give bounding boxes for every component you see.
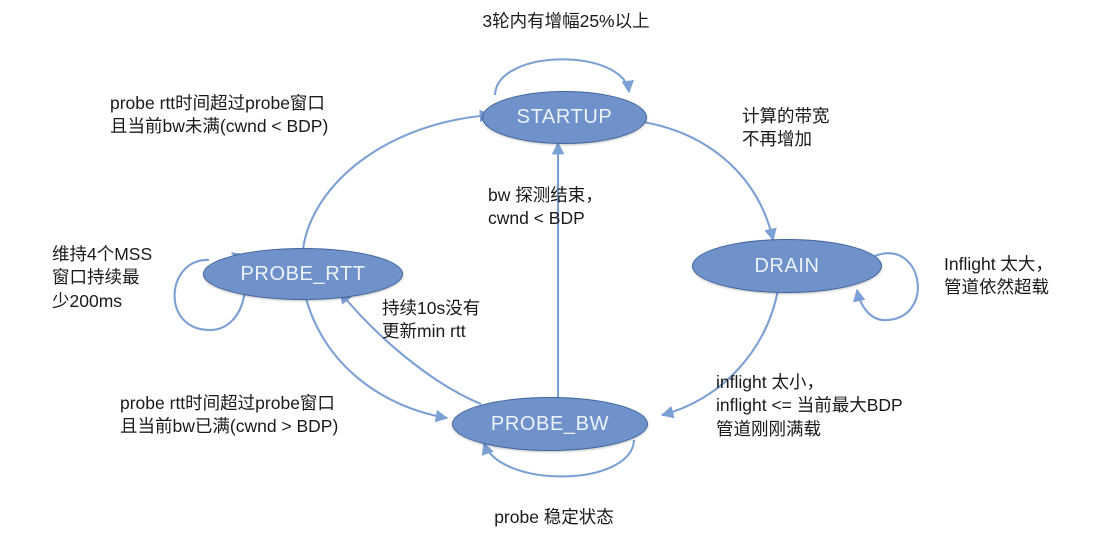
state-node-startup-label: STARTUP [517,106,613,129]
edge-label-probe-bw-to-probe-rtt: 持续10s没有 更新min rtt [382,297,542,344]
edge-label-drain-to-probe-bw: inflight 太小， inflight <= 当前最大BDP 管道刚刚满载 [716,371,966,441]
edge-label-probe-bw-self: probe 稳定状态 [454,506,654,529]
edge-label-startup-self: 3轮内有增幅25%以上 [436,10,696,33]
state-node-drain-label: DRAIN [754,255,819,278]
edge-label-startup-to-drain: 计算的带宽 不再增加 [742,105,922,152]
state-node-startup[interactable]: STARTUP [482,91,647,144]
state-machine-diagram: STARTUP DRAIN PROBE_BW PROBE_RTT 3轮内有增幅2… [0,0,1115,554]
state-node-probe-bw[interactable]: PROBE_BW [452,397,648,451]
state-node-probe-bw-label: PROBE_BW [491,413,609,436]
state-node-drain[interactable]: DRAIN [692,239,882,293]
edge-startup-self [495,59,629,95]
edge-label-drain-self: Inflight 太大， 管道依然超载 [944,253,1114,300]
state-node-probe-rtt[interactable]: PROBE_RTT [203,248,403,300]
edge-label-probe-rtt-to-startup: probe rtt时间超过probe窗口 且当前bw未满(cwnd < BDP) [110,92,420,139]
edge-label-probe-rtt-self: 维持4个MSS 窗口持续最 少200ms [52,243,192,313]
edge-label-probe-bw-to-startup: bw 探测结束， cwnd < BDP [488,184,658,231]
state-node-probe-rtt-label: PROBE_RTT [240,263,365,286]
edge-label-probe-rtt-to-probe-bw: probe rtt时间超过probe窗口 且当前bw已满(cwnd > BDP) [120,392,430,439]
